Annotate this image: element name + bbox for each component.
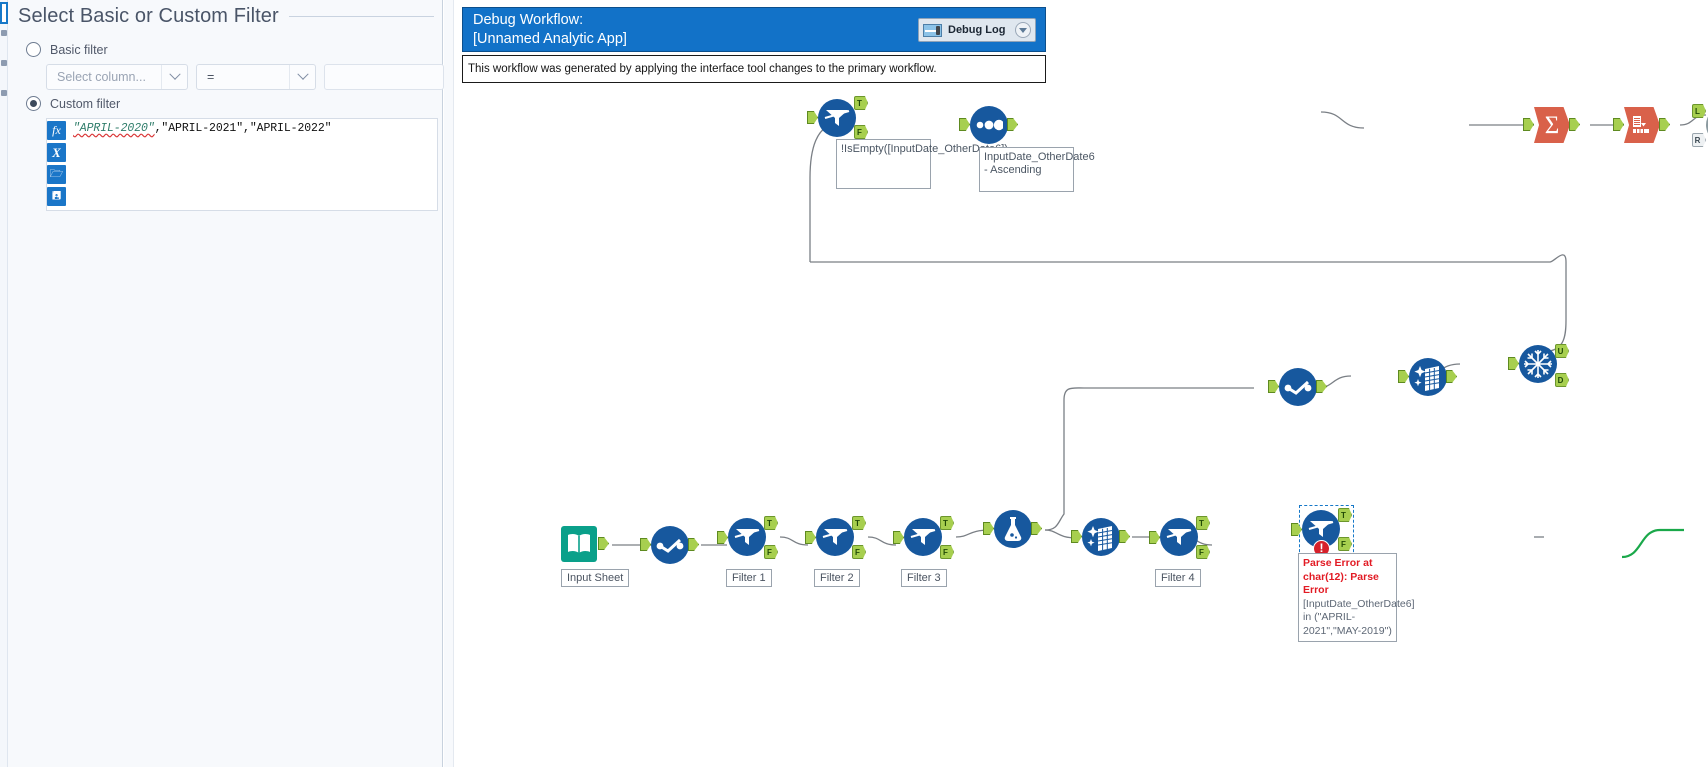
tool-label: Filter 4 [1155,569,1201,587]
true-output-anchor[interactable]: T [852,516,866,530]
input-data-tool[interactable] [561,526,597,562]
error-body: [InputDate_OtherDate6] in ("APRIL-2021",… [1303,598,1392,639]
error-heading: Parse Error at char(12): Parse Error [1303,557,1392,598]
filter-tool[interactable]: T F [904,518,942,556]
union-snowflake-icon[interactable] [1519,345,1557,383]
input-anchor[interactable] [640,538,651,551]
input-anchor[interactable] [1613,118,1624,131]
data-cleanse-icon[interactable] [1082,518,1120,556]
operator-select-value: = [197,70,289,84]
formula-expression[interactable]: "APRIL-2020","APRIL-2021","APRIL-2022" [73,122,433,135]
operator-select[interactable]: = [196,64,316,90]
output-anchor[interactable] [688,538,699,551]
chevron-down-icon[interactable] [161,65,187,89]
expression-gutter: fx X 🗁 🖪 [47,119,69,206]
value-input[interactable] [324,64,444,90]
filter-funnel-icon[interactable] [1160,518,1198,556]
connection-wires [444,0,1708,767]
input-anchor[interactable] [1149,531,1160,544]
folder-open-icon[interactable]: 🗁 [47,165,66,184]
false-output-anchor[interactable]: F [764,545,778,559]
custom-filter-label: Custom filter [50,97,120,111]
sort-tool[interactable] [970,106,1008,144]
summarize-tool[interactable]: Σ [1534,107,1570,143]
debug-log-button[interactable]: Debug Log [918,18,1036,42]
filter-tool-error[interactable]: T F ! [1302,510,1340,548]
false-output-anchor[interactable]: F [1196,545,1210,559]
filter-tool[interactable]: T F [1160,518,1198,556]
input-anchor[interactable] [717,531,728,544]
output-anchor[interactable] [1007,118,1018,131]
sigma-icon[interactable]: Σ [1534,107,1570,143]
right-input-anchor[interactable]: R [1692,133,1706,147]
false-output-anchor[interactable]: F [940,545,954,559]
input-anchor[interactable] [893,531,904,544]
input-anchor[interactable] [1268,380,1279,393]
flask-icon[interactable] [994,510,1032,548]
basic-filter-radio-row[interactable]: Basic filter [26,42,108,57]
rail-icon-2[interactable] [1,60,7,66]
column-select-value: Select column... [47,70,161,84]
input-anchor[interactable] [983,522,994,535]
panel-header: Select Basic or Custom Filter [18,2,434,30]
filter-tool[interactable]: T F [816,518,854,556]
filter-config-panel: Select Basic or Custom Filter Basic filt… [8,0,443,767]
workflow-canvas[interactable]: Debug Workflow: [Unnamed Analytic App] D… [444,0,1708,767]
custom-filter-radio-row[interactable]: Custom filter [26,96,120,111]
union-output-anchor[interactable]: U [1555,344,1569,358]
fx-icon[interactable]: fx [47,121,66,140]
debug-log-label: Debug Log [948,24,1009,36]
custom-filter-radio[interactable] [26,96,41,111]
output-anchor[interactable] [1031,522,1042,535]
output-anchor[interactable] [1316,380,1327,393]
debug-workflow-banner: Debug Workflow: [Unnamed Analytic App] D… [462,7,1046,52]
title-divider [289,16,434,17]
formula-error-token: "APRIL-2020" [73,122,155,135]
debug-log-icon [923,24,942,37]
input-anchor[interactable] [1071,530,1082,543]
sort-dots-icon[interactable] [970,106,1008,144]
output-anchor[interactable] [1569,118,1580,131]
false-output-anchor[interactable]: F [854,125,868,139]
true-output-anchor[interactable]: T [940,516,954,530]
report-render-icon[interactable] [1624,107,1660,143]
data-cleanse-tool[interactable] [1409,358,1447,396]
rail-icon-3[interactable] [1,90,7,96]
duplicate-output-anchor[interactable]: D [1555,373,1569,387]
data-cleanse-tool[interactable] [1082,518,1120,556]
true-output-anchor[interactable]: T [764,516,778,530]
filter-tool[interactable]: T F [728,518,766,556]
formula-remainder: ,"APRIL-2021","APRIL-2022" [155,122,332,135]
select-check-icon[interactable] [651,526,689,564]
page-title: Select Basic or Custom Filter [18,5,279,28]
rail-icon-1[interactable] [1,30,7,36]
input-anchor[interactable] [1523,118,1534,131]
filter-funnel-icon[interactable] [816,518,854,556]
canvas-left-gutter [444,0,454,767]
x-variable-icon[interactable]: X [47,143,66,162]
tool-label: Filter 3 [901,569,947,587]
tool-label: Filter 1 [726,569,772,587]
input-anchor[interactable] [1398,370,1409,383]
output-anchor[interactable] [1659,118,1670,131]
false-output-anchor[interactable]: F [852,545,866,559]
save-disk-icon[interactable]: 🖪 [47,187,66,206]
chevron-down-icon[interactable] [1015,22,1031,38]
left-input-anchor[interactable]: L [1692,104,1706,118]
chevron-down-icon[interactable] [289,65,315,89]
filter-tool[interactable]: T F [818,99,856,137]
tool-annotation: InputDate_OtherDate6 - Ascending [979,147,1074,192]
filter-funnel-icon[interactable] [728,518,766,556]
collapsed-left-rail[interactable] [0,0,8,767]
tool-label: Filter 2 [814,569,860,587]
output-anchor[interactable] [598,537,609,550]
custom-filter-expression-area[interactable]: fx X 🗁 🖪 "APRIL-2020","APRIL-2021","APRI… [46,118,438,211]
basic-filter-controls: Select column... = [46,64,444,90]
tool-annotation: !IsEmpty([InputDate_OtherDate6]) [836,139,931,189]
rail-selected-item[interactable] [0,2,8,24]
select-tool[interactable] [651,526,689,564]
basic-filter-radio[interactable] [26,42,41,57]
basic-filter-label: Basic filter [50,43,108,57]
input-anchor[interactable] [807,111,818,124]
formula-tool[interactable] [994,510,1032,548]
filter-funnel-icon[interactable] [904,518,942,556]
true-output-anchor[interactable]: T [1196,516,1210,530]
column-select[interactable]: Select column... [46,64,188,90]
debug-note-text: This workflow was generated by applying … [462,55,1046,83]
input-book-icon[interactable] [561,526,597,562]
output-anchor[interactable] [1119,530,1130,543]
render-tool[interactable] [1624,107,1660,143]
union-tool[interactable]: U D [1519,345,1557,383]
filter-funnel-icon[interactable] [818,99,856,137]
output-anchor[interactable] [1446,370,1457,383]
input-anchor[interactable] [805,531,816,544]
true-output-anchor[interactable]: T [854,96,868,110]
tool-label: Input Sheet [561,569,629,587]
input-anchor[interactable] [1508,357,1519,370]
error-callout: Parse Error at char(12): Parse Error [In… [1298,553,1397,642]
select-check-icon[interactable] [1279,368,1317,406]
data-cleanse-icon[interactable] [1409,358,1447,396]
input-anchor[interactable] [959,118,970,131]
select-tool[interactable] [1279,368,1317,406]
